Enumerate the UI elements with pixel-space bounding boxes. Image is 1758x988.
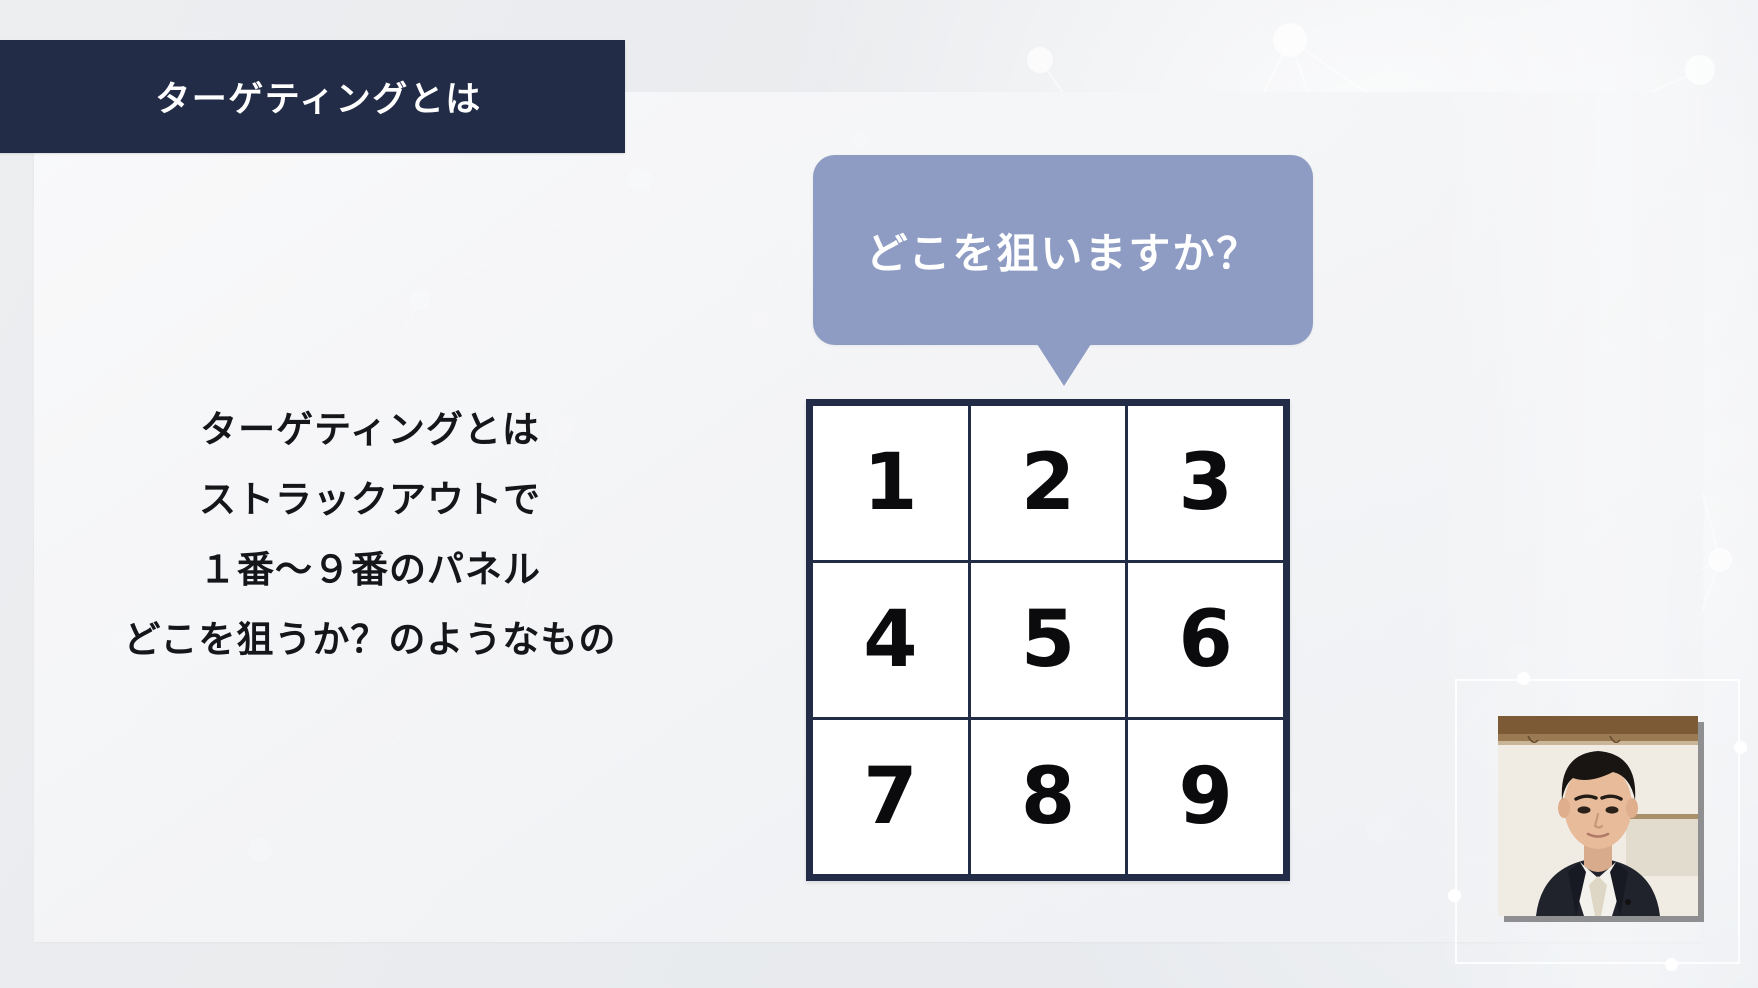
body-text-line-4: どこを狙うか？のようなもの bbox=[60, 605, 680, 675]
panel-cell-8[interactable]: 8 bbox=[971, 720, 1126, 874]
panel-number-9: 9 bbox=[1179, 758, 1233, 836]
speech-bubble: どこを狙いますか？ bbox=[813, 155, 1313, 345]
frame-dot-bottom-icon bbox=[1665, 958, 1678, 971]
panel-cell-9[interactable]: 9 bbox=[1128, 720, 1283, 874]
panel-number-4: 4 bbox=[863, 601, 917, 679]
presenter-video-frame bbox=[1455, 679, 1740, 964]
panel-cell-7[interactable]: 7 bbox=[813, 720, 968, 874]
panel-cell-5[interactable]: 5 bbox=[971, 563, 1126, 717]
strikeout-panel-grid: 1 2 3 4 5 6 7 8 9 bbox=[806, 399, 1290, 881]
presentation-slide: ターゲティングとは ターゲティングとは ストラックアウトで １番〜９番のパネル … bbox=[0, 0, 1758, 988]
panel-number-7: 7 bbox=[863, 758, 917, 836]
panel-cell-1[interactable]: 1 bbox=[813, 406, 968, 560]
presenter-video-thumbnail[interactable] bbox=[1498, 716, 1698, 916]
body-text-line-1: ターゲティングとは bbox=[60, 395, 680, 465]
panel-number-8: 8 bbox=[1021, 758, 1075, 836]
panel-number-6: 6 bbox=[1179, 601, 1233, 679]
speech-bubble-tail-icon bbox=[1037, 344, 1091, 386]
panel-number-2: 2 bbox=[1021, 444, 1075, 522]
body-text-block: ターゲティングとは ストラックアウトで １番〜９番のパネル どこを狙うか？のよう… bbox=[60, 395, 680, 675]
panel-number-1: 1 bbox=[863, 444, 917, 522]
panel-number-3: 3 bbox=[1179, 444, 1233, 522]
frame-dot-right-icon bbox=[1734, 741, 1747, 754]
body-text-line-2: ストラックアウトで bbox=[60, 465, 680, 535]
panel-grid-inner: 1 2 3 4 5 6 7 8 9 bbox=[813, 406, 1283, 874]
panel-cell-3[interactable]: 3 bbox=[1128, 406, 1283, 560]
panel-number-5: 5 bbox=[1021, 601, 1075, 679]
panel-cell-2[interactable]: 2 bbox=[971, 406, 1126, 560]
page-title: ターゲティングとは bbox=[133, 71, 481, 122]
speech-bubble-text: どこを狙いますか？ bbox=[866, 220, 1261, 281]
speech-bubble-body: どこを狙いますか？ bbox=[813, 155, 1313, 345]
slide-title-bar: ターゲティングとは bbox=[0, 40, 625, 153]
panel-cell-4[interactable]: 4 bbox=[813, 563, 968, 717]
panel-cell-6[interactable]: 6 bbox=[1128, 563, 1283, 717]
frame-dot-left-icon bbox=[1448, 889, 1461, 902]
body-text-line-3: １番〜９番のパネル bbox=[60, 535, 680, 605]
frame-dot-top-icon bbox=[1517, 672, 1530, 685]
